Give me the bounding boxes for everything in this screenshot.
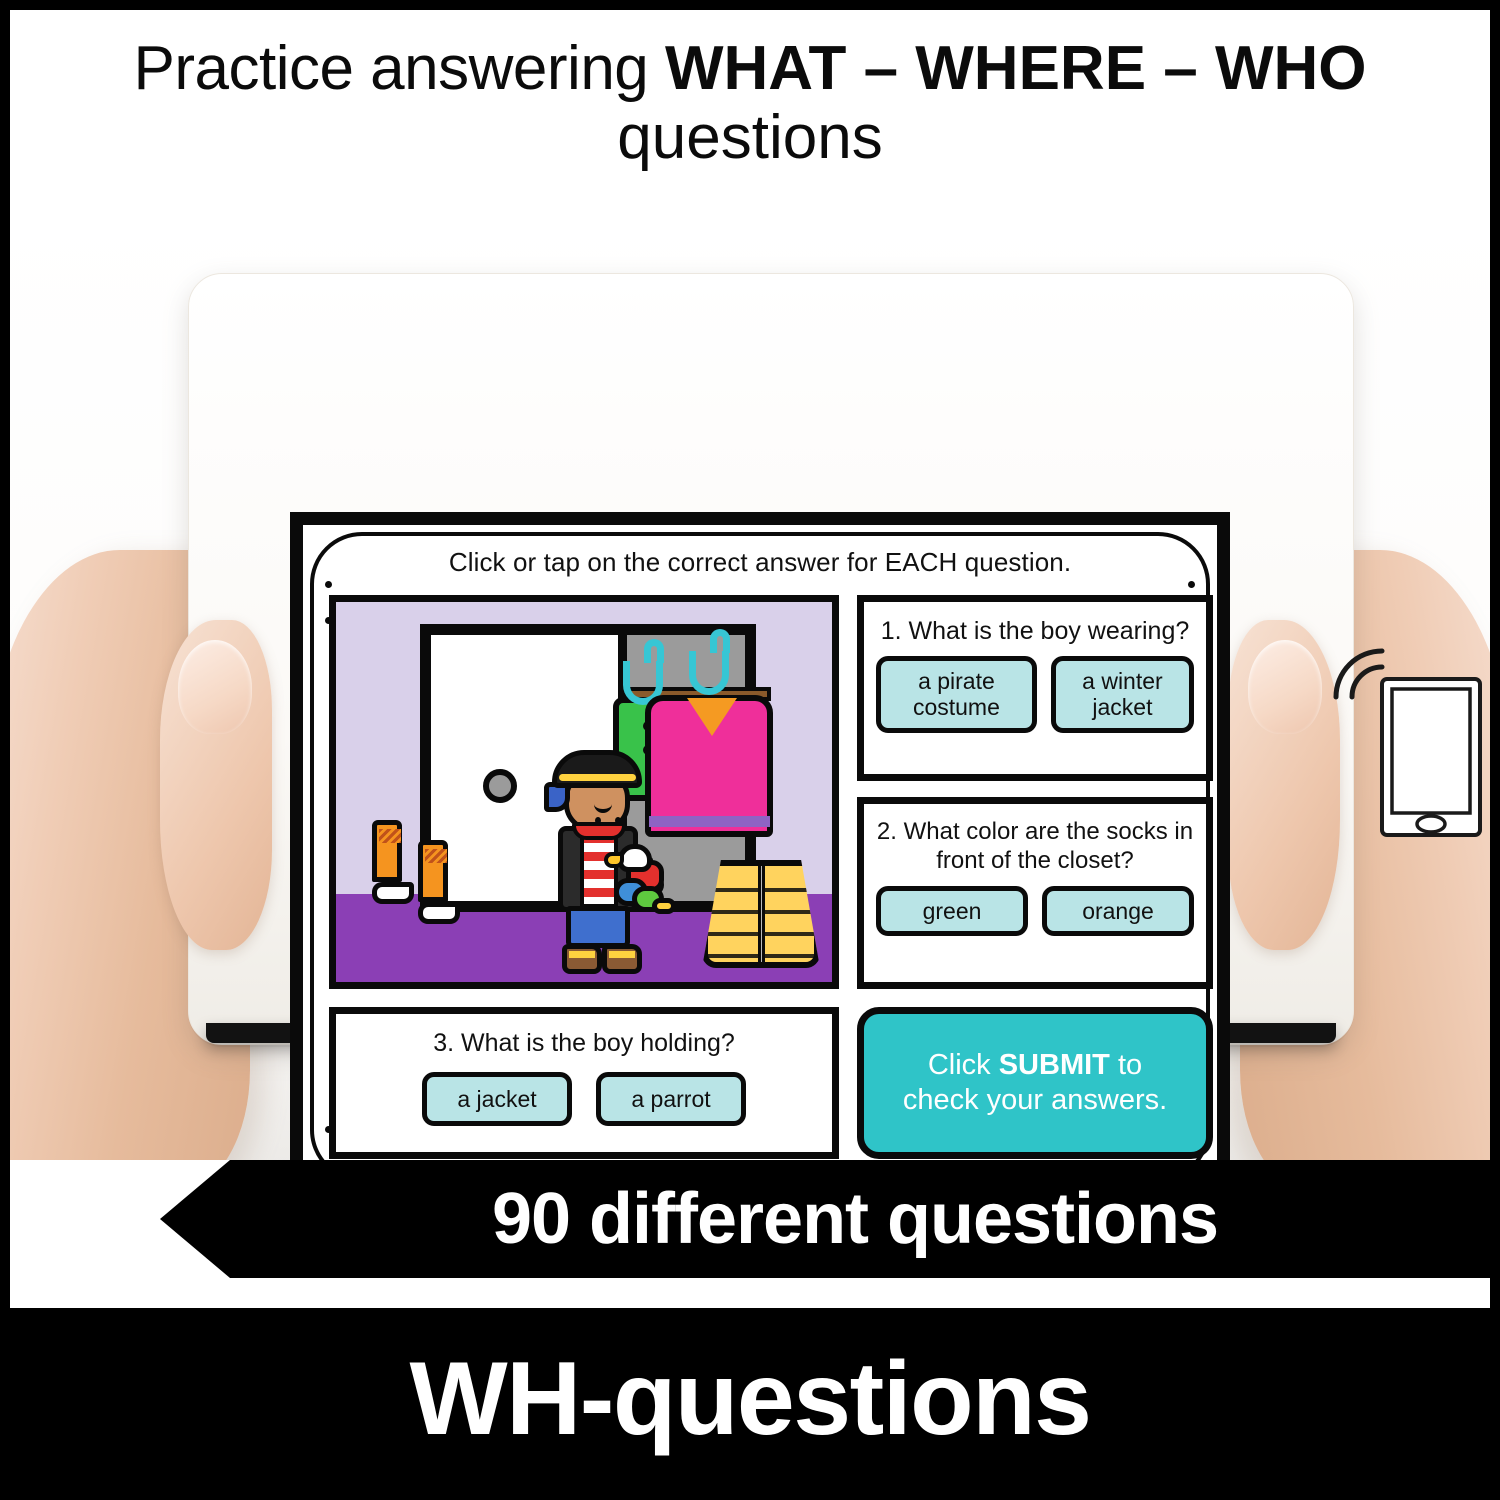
activity-card: Click or tap on the correct answer for E… — [290, 512, 1230, 1160]
submit-prefix: Click — [928, 1049, 999, 1081]
title-bold-part: WHAT – WHERE – WHO — [665, 34, 1367, 103]
pirate-hat — [552, 750, 642, 788]
question-1-text: 1. What is the boy wearing? — [864, 602, 1206, 646]
page-title: Practice answering WHAT – WHERE – WHO qu… — [10, 34, 1490, 173]
question-1-answers: a pirate costume a winter jacket — [864, 646, 1206, 733]
question-3-text: 3. What is the boy holding? — [336, 1014, 832, 1058]
question-2-answers: green orange — [864, 876, 1206, 936]
sock-cuff — [425, 849, 447, 863]
answer-option[interactable]: a winter jacket — [1051, 656, 1194, 733]
question-2-text: 2. What color are the socks in front of … — [864, 804, 1206, 876]
feature-banner-text: 90 different questions — [432, 1178, 1218, 1260]
submit-bold-word: SUBMIT — [999, 1049, 1110, 1081]
pink-sweater — [645, 695, 773, 837]
right-thumb — [1228, 620, 1340, 950]
question-2-panel: 2. What color are the socks in front of … — [857, 797, 1213, 989]
title-banner-text: WH-questions — [409, 1340, 1090, 1459]
question-1-panel: 1. What is the boy wearing? a pirate cos… — [857, 595, 1213, 781]
orange-sock — [418, 840, 448, 924]
submit-second-line: check your answers. — [903, 1084, 1167, 1116]
sock-leg — [418, 840, 448, 902]
question-3-answers: a jacket a parrot — [336, 1058, 832, 1126]
answer-option[interactable]: orange — [1042, 886, 1194, 936]
answer-option[interactable]: a pirate costume — [876, 656, 1037, 733]
question-3-panel: 3. What is the boy holding? a jacket a p… — [329, 1007, 839, 1159]
answer-option[interactable]: a jacket — [422, 1072, 572, 1126]
title-banner: WH-questions — [10, 1308, 1490, 1490]
hanger-hook — [710, 629, 730, 653]
answer-option[interactable]: a parrot — [596, 1072, 746, 1126]
jacket-zipper — [758, 866, 765, 962]
submit-suffix: to — [1110, 1049, 1142, 1081]
boot — [562, 944, 602, 974]
sock-cuff — [379, 829, 401, 843]
title-second-line: questions — [10, 103, 1490, 172]
title-plain-part: Practice answering — [133, 34, 665, 103]
door-knob-icon — [483, 769, 517, 803]
instruction-text: Click or tap on the correct answer for E… — [303, 547, 1217, 578]
right-thumbnail — [1248, 640, 1322, 734]
sweater-v-neck — [687, 698, 737, 736]
sock-leg — [372, 820, 402, 882]
yellow-puffer-jacket — [702, 860, 820, 968]
tablet-photo-stage: Click or tap on the correct answer for E… — [10, 205, 1490, 1160]
sock-foot — [418, 902, 460, 924]
orange-sock — [372, 820, 402, 904]
card-corner-dot — [325, 581, 332, 588]
red-collar — [572, 822, 626, 840]
sock-foot — [372, 882, 414, 904]
feature-banner: 90 different questions — [160, 1160, 1490, 1278]
scene-illustration — [336, 602, 832, 982]
hanger-icon — [689, 651, 729, 695]
sweater-hem — [649, 816, 770, 827]
boot — [602, 944, 642, 974]
boy-in-pirate-costume — [536, 748, 664, 976]
left-thumbnail — [178, 640, 252, 734]
card-corner-dot — [1188, 581, 1195, 588]
poster-page: Practice answering WHAT – WHERE – WHO qu… — [10, 10, 1490, 1490]
left-thumb — [160, 620, 272, 950]
illustration-panel — [329, 595, 839, 989]
answer-option[interactable]: green — [876, 886, 1028, 936]
submit-button-label: Click SUBMIT to check your answers. — [903, 1048, 1167, 1119]
parrot — [608, 844, 674, 918]
hanger-hook — [644, 639, 664, 663]
phone-with-wifi-icon — [1330, 635, 1490, 855]
submit-button[interactable]: Click SUBMIT to check your answers. — [857, 1007, 1213, 1159]
